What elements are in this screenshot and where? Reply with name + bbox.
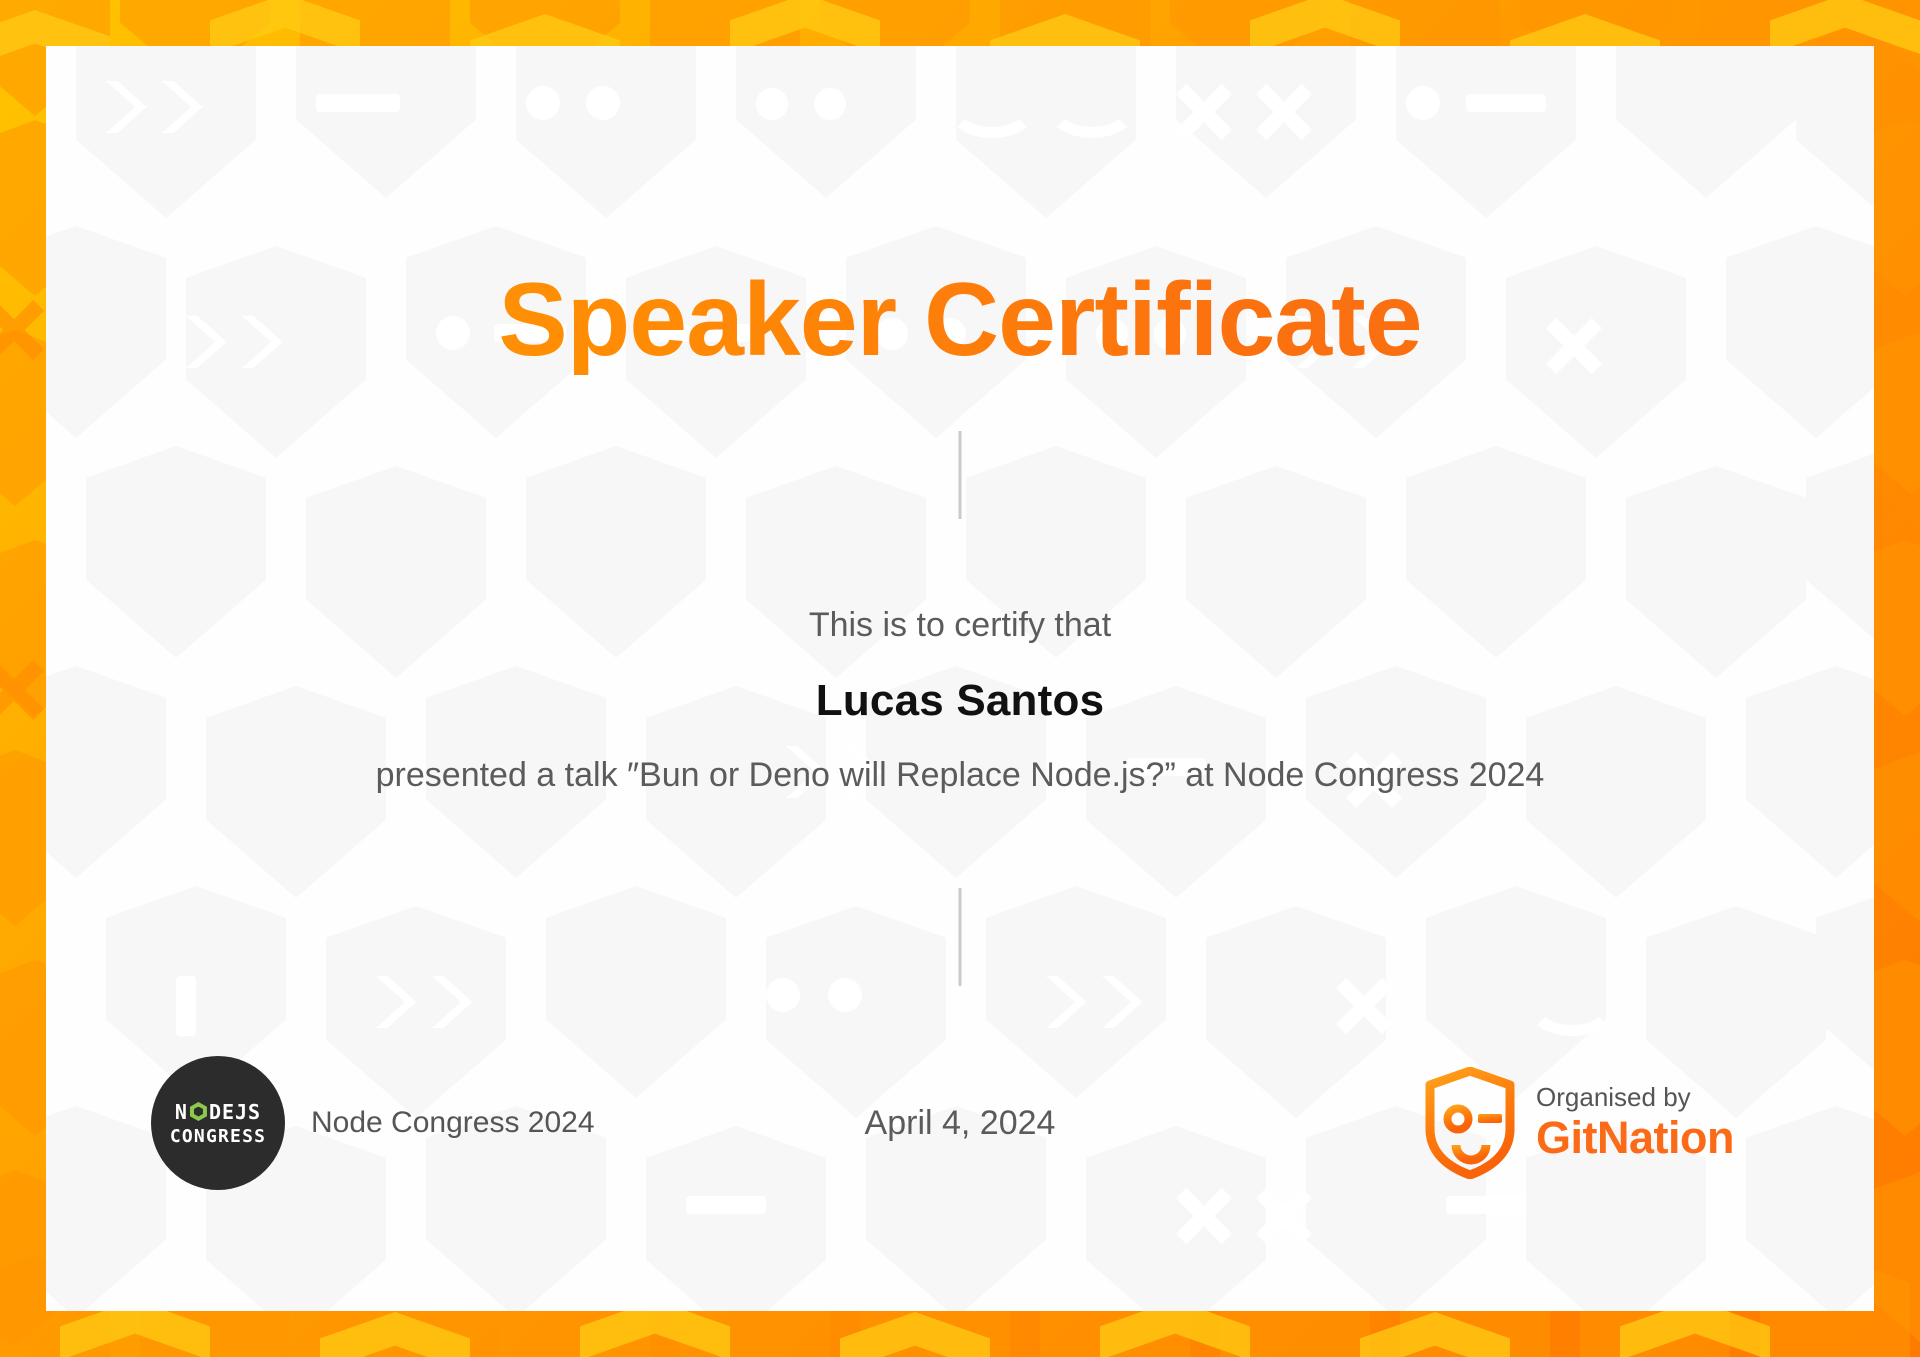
congress-wordmark: CONGRESS — [170, 1126, 266, 1147]
divider-bottom — [959, 888, 962, 986]
divider-top — [959, 431, 962, 519]
nodejs-congress-logo-icon: N DEJS CONGRESS — [151, 1056, 285, 1190]
page-title: Speaker Certificate — [46, 266, 1874, 375]
issue-date: April 4, 2024 — [865, 1104, 1056, 1143]
organiser-block: Organised by GitNation — [1424, 1053, 1734, 1193]
certificate-page: Speaker Certificate This is to certify t… — [0, 0, 1920, 1357]
node-hexagon-icon — [190, 1102, 207, 1121]
organiser-name: GitNation — [1536, 1113, 1734, 1163]
recipient-name: Lucas Santos — [46, 676, 1874, 726]
organised-by-label: Organised by — [1536, 1083, 1734, 1113]
nodejs-letters-dejs: DEJS — [209, 1100, 261, 1124]
gitnation-shield-face-icon — [1424, 1067, 1516, 1179]
nodejs-wordmark: N DEJS — [175, 1100, 261, 1124]
event-identity: N DEJS CONGRESS Node Congress 2024 — [151, 1053, 595, 1193]
talk-description: presented a talk ″Bun or Deno will Repla… — [46, 756, 1874, 795]
certify-statement: This is to certify that — [46, 606, 1874, 645]
certificate-footer: N DEJS CONGRESS Node Congress 2024 April… — [46, 1053, 1874, 1193]
certificate-content: Speaker Certificate This is to certify t… — [46, 46, 1874, 1311]
certificate-card: Speaker Certificate This is to certify t… — [46, 46, 1874, 1311]
organiser-text: Organised by GitNation — [1536, 1083, 1734, 1162]
event-name: Node Congress 2024 — [311, 1106, 595, 1140]
nodejs-letter-n: N — [175, 1100, 188, 1124]
